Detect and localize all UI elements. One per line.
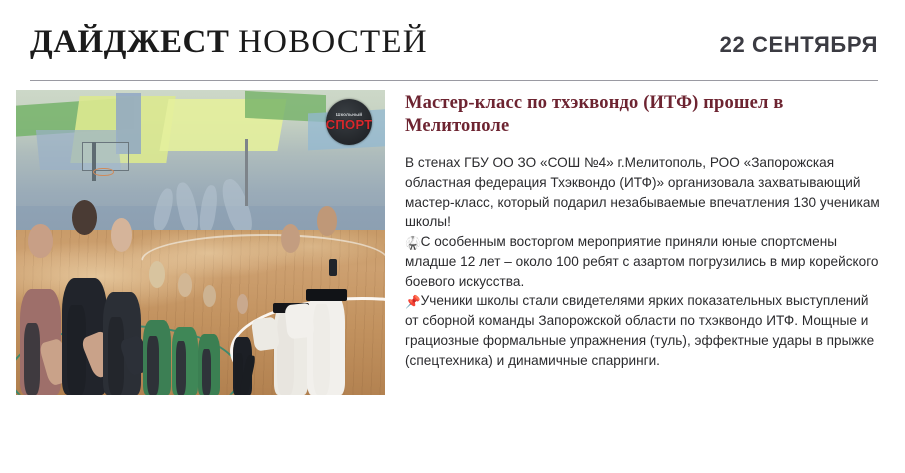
figure-head <box>72 200 97 235</box>
figure-head <box>149 261 165 288</box>
martial-arts-uniform-icon: 🥋 <box>405 237 421 250</box>
gym-pole <box>245 139 248 206</box>
figure-black-belt <box>306 289 346 301</box>
figure-kicking-leg <box>284 303 314 340</box>
issue-date: 22 СЕНТЯБРЯ <box>720 34 878 56</box>
badge-main-label: СПОРТ <box>326 118 372 131</box>
article-photo: Школьный СПОРТ <box>16 90 385 395</box>
figure-leg <box>176 341 186 395</box>
figure-leg <box>24 323 41 395</box>
photo-scene: Школьный СПОРТ <box>16 90 385 395</box>
figure-head <box>203 285 216 307</box>
figure-leg <box>202 349 211 395</box>
taekwondo-master-figure <box>300 206 352 395</box>
figure-kicking-leg <box>250 317 279 353</box>
masthead-title: ДАЙДЖЕСТ НОВОСТЕЙ <box>30 26 428 59</box>
student-figure <box>193 285 226 395</box>
news-digest-page: ДАЙДЖЕСТ НОВОСТЕЙ 22 СЕНТЯБРЯ <box>0 0 905 473</box>
paragraph-text: Ученики школы стали свидетелями ярких по… <box>405 293 874 367</box>
figure-leg <box>313 304 331 395</box>
walking-adult-figure <box>228 294 258 395</box>
basketball-backboard <box>82 142 128 171</box>
figure-leg <box>147 336 159 395</box>
figure-head <box>178 273 193 297</box>
pushpin-icon: 📌 <box>405 296 421 309</box>
page-header: ДАЙДЖЕСТ НОВОСТЕЙ 22 СЕНТЯБРЯ <box>30 26 878 78</box>
paragraph-text: С особенным восторгом мероприятие принял… <box>405 234 879 289</box>
article-paragraph: В стенах ГБУ ОО ЗО «СОШ №4» г.Мелитополь… <box>405 153 883 232</box>
figure-head <box>237 294 248 314</box>
basketball-hoop-pole <box>92 142 96 182</box>
dobok-patch <box>329 259 337 276</box>
article-paragraph: 🥋С особенным восторгом мероприятие приня… <box>405 232 883 291</box>
masthead-light-word: НОВОСТЕЙ <box>238 24 428 60</box>
masthead-bold-word: ДАЙДЖЕСТ <box>30 24 229 60</box>
header-divider <box>30 80 878 81</box>
figure-leg <box>108 317 125 395</box>
article-column: Мастер-класс по тхэквондо (ИТФ) прошел в… <box>405 92 883 370</box>
article-paragraph: 📌Ученики школы стали свидетелями ярких п… <box>405 291 883 370</box>
figure-head <box>281 224 300 253</box>
sport-badge: Школьный СПОРТ <box>326 99 372 145</box>
article-body: В стенах ГБУ ОО ЗО «СОШ №4» г.Мелитополь… <box>405 153 883 370</box>
figure-head <box>28 224 52 258</box>
figure-head <box>111 218 133 252</box>
article-title: Мастер-класс по тхэквондо (ИТФ) прошел в… <box>405 92 883 139</box>
figure-head <box>317 206 338 236</box>
paragraph-text: В стенах ГБУ ОО ЗО «СОШ №4» г.Мелитополь… <box>405 155 880 229</box>
